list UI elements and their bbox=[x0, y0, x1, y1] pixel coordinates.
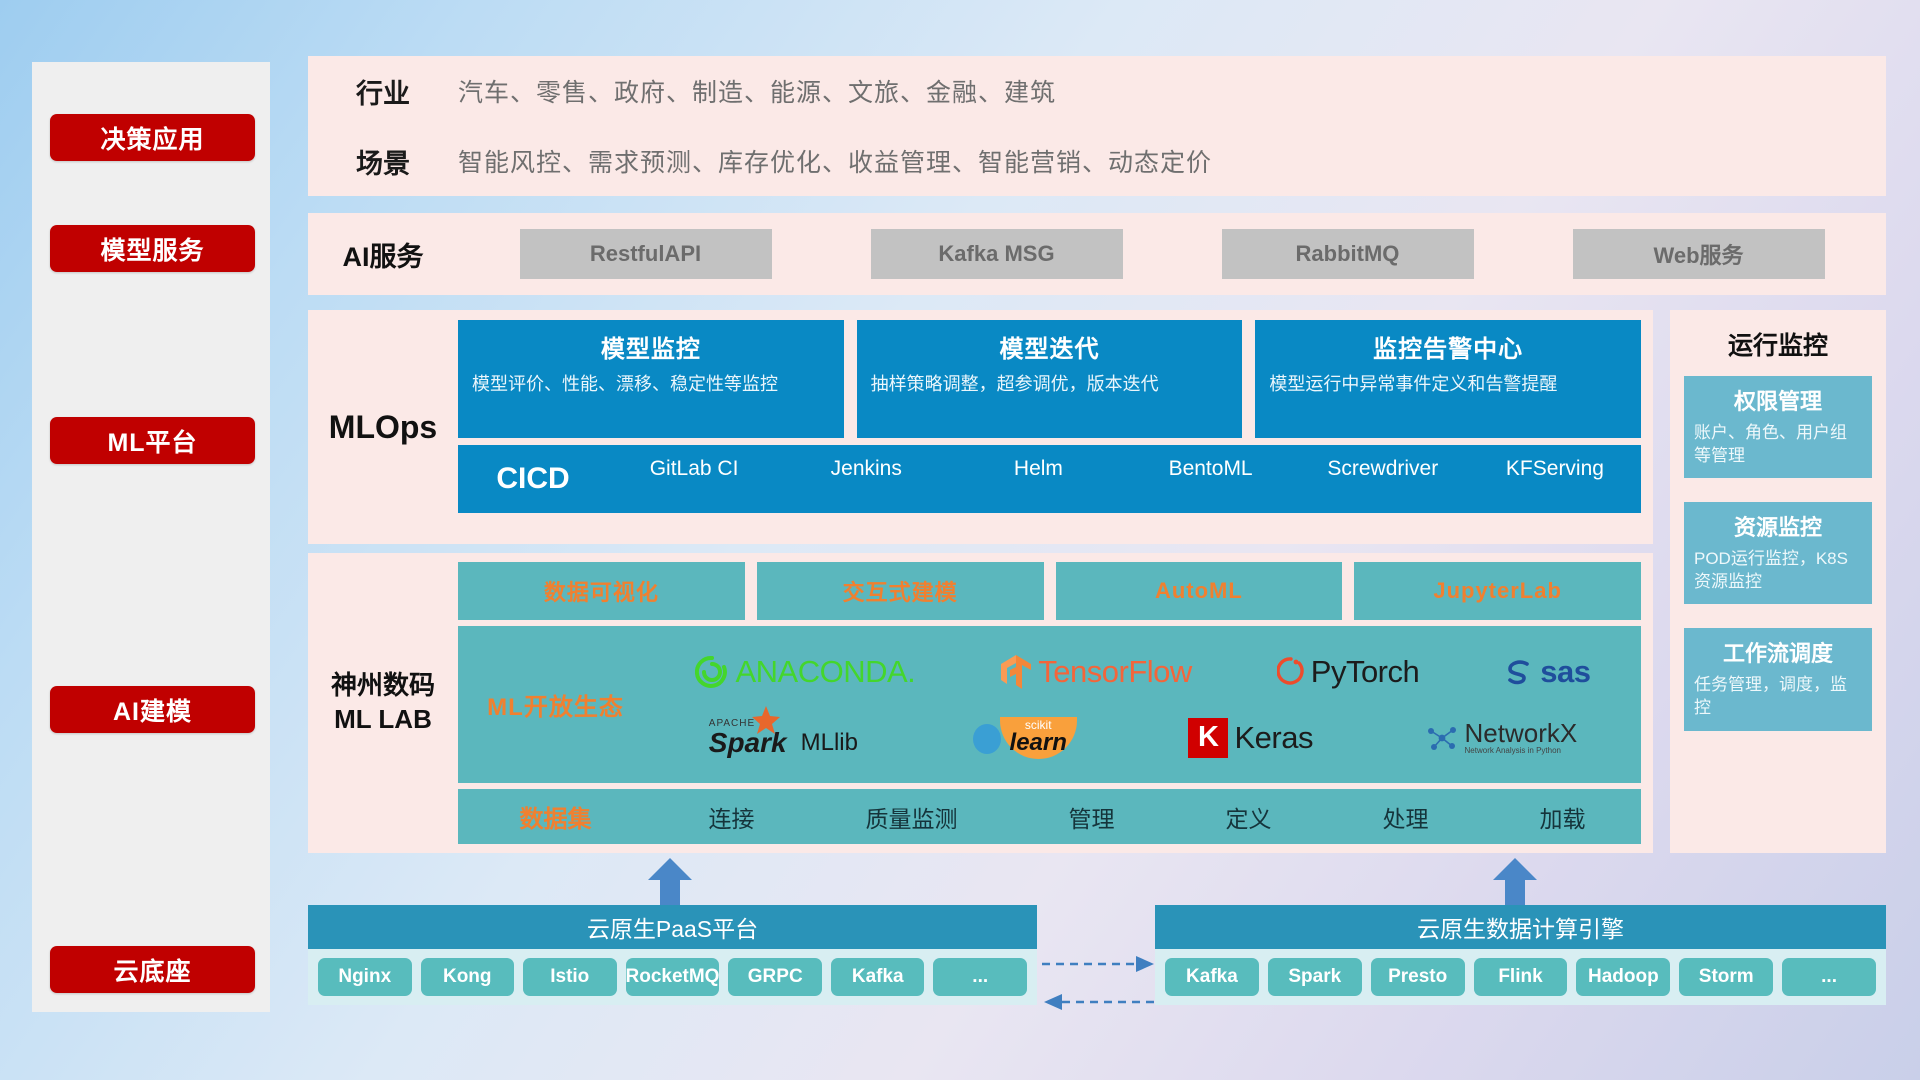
anaconda-icon bbox=[695, 655, 729, 689]
card-desc: 账户、角色、用户组等管理 bbox=[1694, 422, 1862, 467]
keras-logo: K Keras bbox=[1188, 718, 1312, 758]
pytorch-icon bbox=[1277, 655, 1305, 689]
mlops-content: 模型监控 模型评价、性能、漂移、稳定性等监控 模型迭代 抽样策略调整，超参调优，… bbox=[458, 310, 1653, 544]
rail-label: 模型服务 bbox=[100, 231, 204, 267]
service-restful-api[interactable]: RestfulAPI bbox=[520, 229, 772, 279]
chip-istio[interactable]: Istio bbox=[523, 958, 617, 996]
chip-presto[interactable]: Presto bbox=[1371, 958, 1465, 996]
ml-lab-label-line2: ML LAB bbox=[334, 703, 432, 737]
tool-jupyterlab[interactable]: JupyterLab bbox=[1354, 562, 1641, 620]
engine-chip-list: Kafka Spark Presto Flink Hadoop Storm ..… bbox=[1155, 949, 1886, 1005]
ml-ecosystem-row: ML开放生态 ANACONDA. bbox=[458, 626, 1641, 783]
paas-title: 云原生PaaS平台 bbox=[308, 905, 1037, 949]
architecture-diagram: 决策应用 模型服务 ML平台 AI建模 云底座 行业 汽车、零售、政府、制造、能… bbox=[0, 0, 1920, 1080]
mlops-card-model-iteration[interactable]: 模型迭代 抽样策略调整，超参调优，版本迭代 bbox=[857, 320, 1243, 438]
scene-label: 场景 bbox=[308, 142, 458, 181]
spark-mllib-logo: APACHE Spark MLlib bbox=[709, 719, 858, 757]
chip-kafka[interactable]: Kafka bbox=[831, 958, 925, 996]
logo-line-2: APACHE Spark MLlib bbox=[653, 707, 1633, 769]
tensorflow-logo: TensorFlow bbox=[1000, 654, 1192, 690]
cicd-item-kfserving[interactable]: KFServing bbox=[1469, 457, 1641, 501]
dataset-label: 数据集 bbox=[458, 799, 653, 834]
chip-flink[interactable]: Flink bbox=[1474, 958, 1568, 996]
chip-more[interactable]: ... bbox=[933, 958, 1027, 996]
networkx-icon bbox=[1425, 723, 1459, 753]
engine-up-arrow-icon bbox=[1485, 858, 1545, 908]
networkx-sub-text: Network Analysis in Python bbox=[1465, 747, 1578, 755]
pytorch-logo: PyTorch bbox=[1277, 654, 1419, 690]
cicd-item-screwdriver[interactable]: Screwdriver bbox=[1297, 457, 1469, 501]
monitor-card-resource[interactable]: 资源监控 POD运行监控，K8S资源监控 bbox=[1684, 502, 1872, 604]
dataset-row: 数据集 连接 质量监测 管理 定义 处理 加载 bbox=[458, 789, 1641, 844]
cicd-item-jenkins[interactable]: Jenkins bbox=[780, 457, 952, 501]
ml-ecosystem-logos: ANACONDA. TensorFlow bbox=[653, 641, 1641, 769]
scikit-bottom-text: learn bbox=[1010, 731, 1067, 755]
rail-label: ML平台 bbox=[107, 423, 197, 459]
cicd-item-bentoml[interactable]: BentoML bbox=[1125, 457, 1297, 501]
card-title: 模型迭代 bbox=[871, 329, 1229, 364]
chip-kong[interactable]: Kong bbox=[421, 958, 515, 996]
chip-spark[interactable]: Spark bbox=[1268, 958, 1362, 996]
tool-data-visualization[interactable]: 数据可视化 bbox=[458, 562, 745, 620]
rail-item-cloud-base[interactable]: 云底座 bbox=[50, 946, 255, 993]
runtime-monitor-panel: 运行监控 权限管理 账户、角色、用户组等管理 资源监控 POD运行监控，K8S资… bbox=[1670, 310, 1886, 853]
runtime-monitor-title: 运行监控 bbox=[1670, 310, 1886, 376]
ml-lab-panel: 神州数码 ML LAB 数据可视化 交互式建模 AutoML JupyterLa… bbox=[308, 553, 1653, 853]
monitor-card-workflow[interactable]: 工作流调度 任务管理，调度，监控 bbox=[1684, 628, 1872, 730]
tensorflow-logo-text: TensorFlow bbox=[1038, 654, 1192, 690]
sas-icon bbox=[1504, 657, 1534, 687]
card-desc: POD运行监控，K8S资源监控 bbox=[1694, 548, 1862, 593]
card-title: 权限管理 bbox=[1694, 384, 1862, 416]
chip-hadoop[interactable]: Hadoop bbox=[1576, 958, 1670, 996]
keras-icon: K bbox=[1188, 718, 1228, 758]
dataset-item-define[interactable]: 定义 bbox=[1226, 800, 1272, 834]
card-desc: 模型运行中异常事件定义和告警提醒 bbox=[1269, 372, 1627, 396]
card-desc: 任务管理，调度，监控 bbox=[1694, 674, 1862, 719]
industry-label: 行业 bbox=[308, 72, 458, 111]
anaconda-logo-text: ANACONDA. bbox=[735, 654, 915, 690]
scikit-blue-blob-icon bbox=[970, 721, 1004, 755]
engine-title: 云原生数据计算引擎 bbox=[1155, 905, 1886, 949]
left-rail-panel: 决策应用 模型服务 ML平台 AI建模 云底座 bbox=[32, 62, 270, 1012]
rail-item-decision-app[interactable]: 决策应用 bbox=[50, 114, 255, 161]
mlops-card-alert-center[interactable]: 监控告警中心 模型运行中异常事件定义和告警提醒 bbox=[1255, 320, 1641, 438]
chip-more[interactable]: ... bbox=[1782, 958, 1876, 996]
scikit-learn-logo: scikit learn bbox=[970, 717, 1077, 759]
cloud-native-paas-block: 云原生PaaS平台 Nginx Kong Istio RocketMQ GRPC… bbox=[308, 905, 1037, 1005]
chip-grpc[interactable]: GRPC bbox=[728, 958, 822, 996]
ml-lab-tool-row: 数据可视化 交互式建模 AutoML JupyterLab bbox=[458, 562, 1641, 620]
ai-service-list: RestfulAPI Kafka MSG RabbitMQ Web服务 bbox=[458, 229, 1886, 279]
card-desc: 模型评价、性能、漂移、稳定性等监控 bbox=[472, 372, 830, 396]
card-title: 资源监控 bbox=[1694, 510, 1862, 542]
dataset-item-connect[interactable]: 连接 bbox=[709, 800, 755, 834]
networkx-logo: NetworkX Network Analysis in Python bbox=[1425, 720, 1578, 756]
sas-logo-text: sas bbox=[1540, 654, 1590, 690]
cicd-item-helm[interactable]: Helm bbox=[952, 457, 1124, 501]
service-web[interactable]: Web服务 bbox=[1573, 229, 1825, 279]
spark-mllib-text: MLlib bbox=[801, 729, 858, 757]
rail-label: 决策应用 bbox=[100, 120, 204, 156]
paas-chip-list: Nginx Kong Istio RocketMQ GRPC Kafka ... bbox=[308, 949, 1037, 1005]
mlops-card-model-monitor[interactable]: 模型监控 模型评价、性能、漂移、稳定性等监控 bbox=[458, 320, 844, 438]
service-kafka-msg[interactable]: Kafka MSG bbox=[871, 229, 1123, 279]
keras-logo-text: Keras bbox=[1234, 720, 1312, 756]
rail-label: AI建模 bbox=[113, 692, 192, 728]
ml-lab-label: 神州数码 ML LAB bbox=[308, 553, 458, 853]
chip-rocketmq[interactable]: RocketMQ bbox=[626, 958, 720, 996]
rail-item-ml-platform[interactable]: ML平台 bbox=[50, 417, 255, 464]
spark-star-icon bbox=[751, 705, 781, 735]
card-title: 监控告警中心 bbox=[1269, 329, 1627, 364]
dataset-item-list: 连接 质量监测 管理 定义 处理 加载 bbox=[653, 800, 1641, 834]
ml-ecosystem-label: ML开放生态 bbox=[458, 687, 653, 722]
sas-logo: sas bbox=[1504, 654, 1590, 690]
chip-kafka[interactable]: Kafka bbox=[1165, 958, 1259, 996]
industry-row: 行业 汽车、零售、政府、制造、能源、文旅、金融、建筑 bbox=[308, 56, 1886, 126]
cloud-native-data-engine-block: 云原生数据计算引擎 Kafka Spark Presto Flink Hadoo… bbox=[1155, 905, 1886, 1005]
chip-storm[interactable]: Storm bbox=[1679, 958, 1773, 996]
paas-up-arrow-icon bbox=[640, 858, 700, 908]
bidirectional-link-icon bbox=[1040, 950, 1160, 1020]
monitor-card-permission[interactable]: 权限管理 账户、角色、用户组等管理 bbox=[1684, 376, 1872, 478]
rail-item-ai-modeling[interactable]: AI建模 bbox=[50, 686, 255, 733]
networkx-logo-text: NetworkX bbox=[1465, 720, 1578, 747]
cicd-bar: CICD GitLab CI Jenkins Helm BentoML Scre… bbox=[458, 445, 1641, 513]
cicd-item-list: GitLab CI Jenkins Helm BentoML Screwdriv… bbox=[608, 457, 1641, 501]
scene-value: 智能风控、需求预测、库存优化、收益管理、智能营销、动态定价 bbox=[458, 143, 1212, 179]
decision-application-panel: 行业 汽车、零售、政府、制造、能源、文旅、金融、建筑 场景 智能风控、需求预测、… bbox=[308, 56, 1886, 196]
industry-value: 汽车、零售、政府、制造、能源、文旅、金融、建筑 bbox=[458, 73, 1056, 109]
card-title: 工作流调度 bbox=[1694, 636, 1862, 668]
dataset-item-manage[interactable]: 管理 bbox=[1069, 800, 1115, 834]
ai-service-label: AI服务 bbox=[308, 235, 458, 274]
mlops-card-list: 模型监控 模型评价、性能、漂移、稳定性等监控 模型迭代 抽样策略调整，超参调优，… bbox=[458, 320, 1641, 438]
ml-lab-content: 数据可视化 交互式建模 AutoML JupyterLab ML开放生态 ANA… bbox=[458, 553, 1653, 853]
anaconda-logo: ANACONDA. bbox=[695, 654, 915, 690]
service-rabbitmq[interactable]: RabbitMQ bbox=[1222, 229, 1474, 279]
tool-interactive-modeling[interactable]: 交互式建模 bbox=[757, 562, 1044, 620]
card-title: 模型监控 bbox=[472, 329, 830, 364]
mlops-label: MLOps bbox=[308, 310, 458, 544]
card-desc: 抽样策略调整，超参调优，版本迭代 bbox=[871, 372, 1229, 396]
cicd-label: CICD bbox=[458, 462, 608, 496]
tensorflow-icon bbox=[1000, 654, 1032, 690]
mlops-panel: MLOps 模型监控 模型评价、性能、漂移、稳定性等监控 模型迭代 抽样策略调整… bbox=[308, 310, 1653, 544]
dataset-item-load[interactable]: 加载 bbox=[1540, 800, 1586, 834]
dataset-item-process[interactable]: 处理 bbox=[1383, 800, 1429, 834]
ai-service-panel: AI服务 RestfulAPI Kafka MSG RabbitMQ Web服务 bbox=[308, 213, 1886, 295]
dataset-item-quality[interactable]: 质量监测 bbox=[866, 800, 958, 834]
scene-row: 场景 智能风控、需求预测、库存优化、收益管理、智能营销、动态定价 bbox=[308, 126, 1886, 196]
tool-automl[interactable]: AutoML bbox=[1056, 562, 1343, 620]
rail-item-model-service[interactable]: 模型服务 bbox=[50, 225, 255, 272]
rail-label: 云底座 bbox=[113, 952, 191, 988]
pytorch-logo-text: PyTorch bbox=[1311, 654, 1419, 690]
ml-lab-label-line1: 神州数码 bbox=[331, 669, 435, 703]
chip-nginx[interactable]: Nginx bbox=[318, 958, 412, 996]
cicd-item-gitlab-ci[interactable]: GitLab CI bbox=[608, 457, 780, 501]
logo-line-1: ANACONDA. TensorFlow bbox=[653, 641, 1633, 703]
